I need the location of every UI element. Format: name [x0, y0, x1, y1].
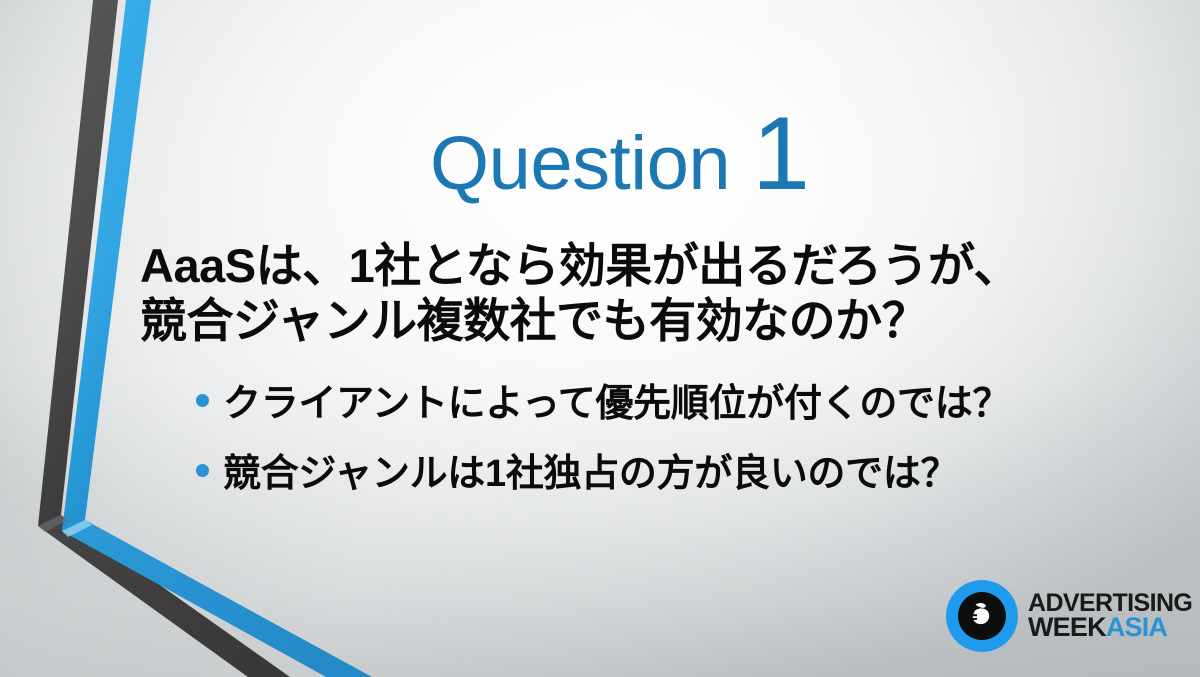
- logo-week-text: WEEK: [1028, 612, 1106, 642]
- list-item: 競合ジャンルは1社独占の方が良いのでは？: [196, 452, 1136, 498]
- advertising-week-asia-mark-icon: [944, 578, 1020, 654]
- heading-line-1: AaaSは、1社となら効果が出るだろうが、: [140, 239, 1170, 294]
- presentation-slide: Question1 AaaSは、1社となら効果が出るだろうが、 競合ジャンル複数…: [0, 0, 1200, 677]
- chevron-blue-bevel: [62, 520, 92, 537]
- bullet-dot-icon: [196, 464, 209, 477]
- chevron-gray-bevel: [38, 515, 68, 532]
- bullet-text-2: 競合ジャンルは1社独占の方が良いのでは？: [223, 452, 958, 498]
- chevron-blue-lower: [62, 520, 372, 677]
- bullet-text-1: クライアントによって優先順位が付くのでは？: [223, 382, 1010, 428]
- advertising-week-asia-logo: ADVERTISING WEEKASIA: [944, 578, 1192, 654]
- slide-heading: AaaSは、1社となら効果が出るだろうが、 競合ジャンル複数社でも有効なのか？: [140, 239, 1170, 349]
- bullet-dot-icon: [196, 394, 209, 407]
- logo-asia-text: ASIA: [1106, 612, 1167, 642]
- chevron-blue-upper: [62, 0, 151, 531]
- slide-title: Question1: [0, 102, 1200, 206]
- chevron-gray-lower: [38, 515, 290, 677]
- logo-wordmark: ADVERTISING WEEKASIA: [1028, 592, 1192, 640]
- heading-line-2: 競合ジャンル複数社でも有効なのか？: [140, 294, 1170, 349]
- logo-line-week-asia: WEEKASIA: [1028, 615, 1192, 640]
- list-item: クライアントによって優先順位が付くのでは？: [196, 382, 1136, 428]
- bullet-list: クライアントによって優先順位が付くのでは？ 競合ジャンルは1社独占の方が良いので…: [196, 382, 1136, 521]
- title-number: 1: [752, 96, 810, 212]
- chevron-gray-upper: [38, 0, 118, 526]
- title-word: Question: [430, 121, 730, 206]
